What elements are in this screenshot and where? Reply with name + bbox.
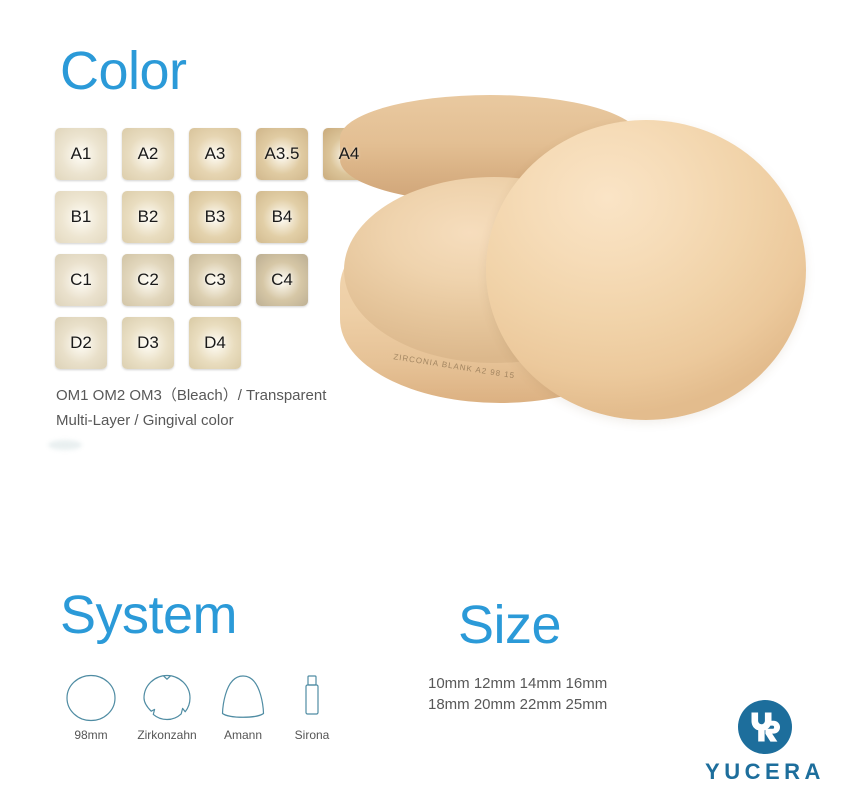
- color-swatch-c2[interactable]: C2: [122, 254, 174, 306]
- color-swatch-label: B4: [272, 207, 293, 227]
- color-swatch-a3-5[interactable]: A3.5: [256, 128, 308, 180]
- background-artifact: [48, 440, 82, 450]
- front-disc-top-face: [486, 120, 806, 420]
- color-swatch-c1[interactable]: C1: [55, 254, 107, 306]
- color-swatch-b2[interactable]: B2: [122, 191, 174, 243]
- system-caption: Zirkonzahn: [137, 728, 196, 742]
- system-item-98mm: 98mm: [58, 670, 124, 742]
- color-swatch-label: A1: [71, 144, 92, 164]
- yucera-monogram-icon: [738, 700, 792, 754]
- sirona-block-icon: [298, 670, 326, 722]
- circle-disc-icon: [65, 670, 117, 722]
- color-swatch-label: C1: [70, 270, 92, 290]
- brand-wordmark: YUCERA: [705, 761, 825, 783]
- system-caption: 98mm: [74, 728, 107, 742]
- color-swatch-b1[interactable]: B1: [55, 191, 107, 243]
- color-swatch-label: A2: [138, 144, 159, 164]
- color-swatch-b4[interactable]: B4: [256, 191, 308, 243]
- color-swatch-label: D4: [204, 333, 226, 353]
- color-swatch-label: D2: [70, 333, 92, 353]
- amann-dome-icon: [217, 670, 269, 722]
- color-note-line: Multi-Layer / Gingival color: [56, 408, 326, 433]
- system-caption: Sirona: [295, 728, 330, 742]
- size-line: 10mm 12mm 14mm 16mm: [428, 673, 607, 694]
- color-swatch-c3[interactable]: C3: [189, 254, 241, 306]
- color-swatch-d4[interactable]: D4: [189, 317, 241, 369]
- color-swatch-label: D3: [137, 333, 159, 353]
- size-values: 10mm 12mm 14mm 16mm18mm 20mm 22mm 25mm: [428, 673, 607, 715]
- color-swatch-label: B3: [205, 207, 226, 227]
- system-compatibility-list: 98mm Zirkonzahn Amann Sirona: [58, 670, 338, 742]
- system-item-zirkonzahn: Zirkonzahn: [134, 670, 200, 742]
- page-title-size: Size: [458, 598, 561, 652]
- system-caption: Amann: [224, 728, 262, 742]
- color-swatch-a1[interactable]: A1: [55, 128, 107, 180]
- system-item-amann: Amann: [210, 670, 276, 742]
- zirkonzahn-disc-icon: [141, 670, 193, 722]
- color-swatch-b3[interactable]: B3: [189, 191, 241, 243]
- color-swatch-label: C4: [271, 270, 293, 290]
- color-note-line: OM1 OM2 OM3（Bleach）/ Transparent: [56, 383, 326, 408]
- system-item-sirona: Sirona: [286, 670, 338, 742]
- color-swatch-d3[interactable]: D3: [122, 317, 174, 369]
- color-swatch-a3[interactable]: A3: [189, 128, 241, 180]
- color-swatch-label: A3.5: [265, 144, 300, 164]
- color-swatch-d2[interactable]: D2: [55, 317, 107, 369]
- size-line: 18mm 20mm 22mm 25mm: [428, 694, 607, 715]
- color-swatch-label: C3: [204, 270, 226, 290]
- color-swatch-label: A3: [205, 144, 226, 164]
- zirconia-disc-pair-image: ZIRCONIA BLANK A2 98 15: [340, 95, 800, 455]
- color-swatch-c4[interactable]: C4: [256, 254, 308, 306]
- color-swatch-a2[interactable]: A2: [122, 128, 174, 180]
- color-swatch-label: C2: [137, 270, 159, 290]
- brand-logo: YUCERA: [704, 700, 826, 783]
- color-swatch-label: B1: [71, 207, 92, 227]
- page-title-system: System: [60, 588, 237, 642]
- page-title-color: Color: [60, 44, 187, 98]
- color-swatch-label: A4: [339, 144, 360, 164]
- color-notes: OM1 OM2 OM3（Bleach）/ TransparentMulti-La…: [56, 383, 326, 433]
- color-swatch-label: B2: [138, 207, 159, 227]
